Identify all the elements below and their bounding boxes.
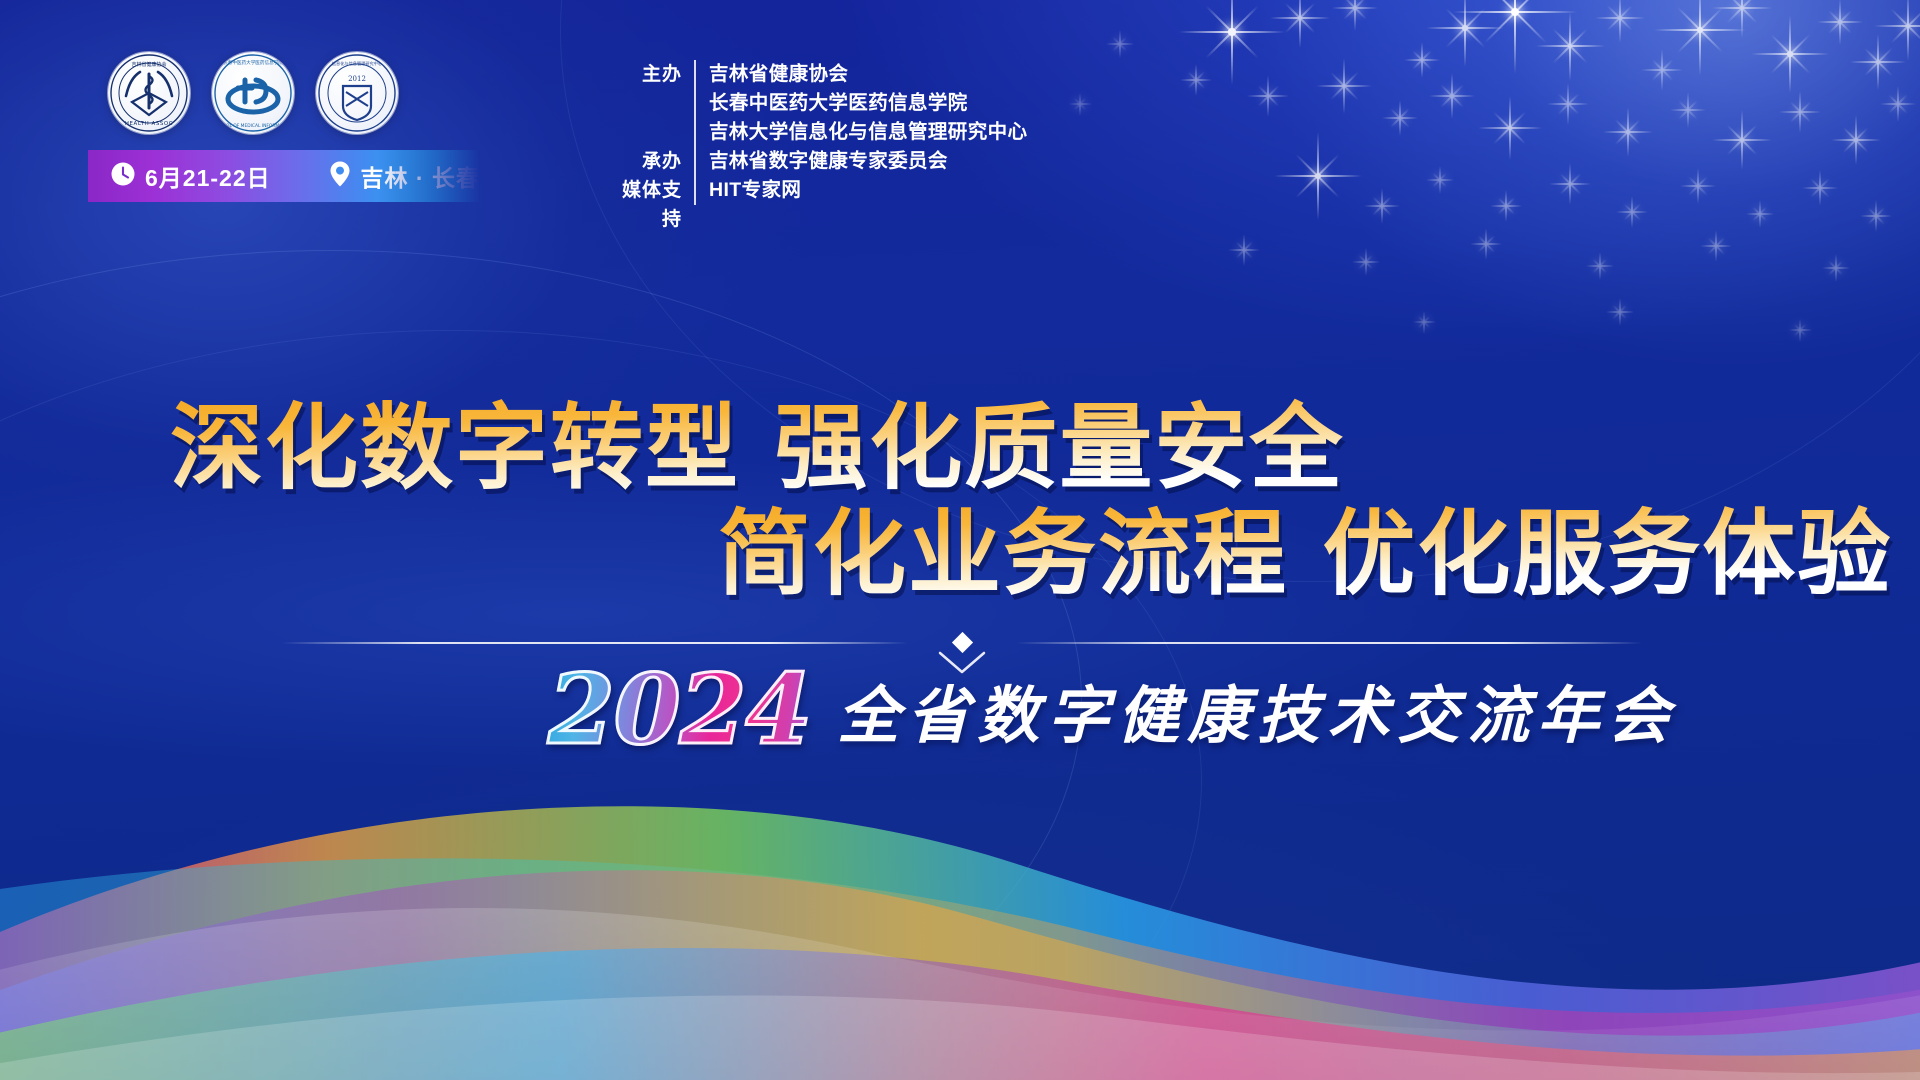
organizer-divider	[694, 176, 696, 205]
event-title: 全省数字健康技术交流年会	[837, 682, 1677, 758]
organizer-row: 承办 吉林省数字健康专家委员会	[608, 147, 1027, 176]
svg-text:吉林省健康协会: 吉林省健康协会	[131, 61, 166, 68]
logo-year: 2012	[348, 75, 366, 83]
location-pin-icon	[328, 160, 352, 193]
organizer-row: 媒体支持 HIT专家网	[608, 176, 1027, 205]
date-location-badge: 6月21-22日 吉林 · 长春	[88, 150, 480, 202]
organizer-divider	[694, 118, 696, 147]
organizer-label: 媒体支持	[608, 176, 694, 234]
location-text: 吉林 · 长春	[361, 159, 480, 193]
changchun-medical-information-college-logo: 长春中医药大学医药信息学院 SCHOOL OF MEDICAL INFORMAT…	[212, 52, 294, 134]
date-text: 6月21-22日	[145, 159, 271, 193]
top-right-glow	[1240, 0, 1920, 380]
organizer-label: 主办	[608, 60, 694, 89]
date-segment: 6月21-22日	[110, 159, 271, 193]
organizer-divider	[694, 147, 696, 176]
headline-line-2: 简化业务流程 优化服务体验	[718, 504, 1920, 604]
organizer-value: 吉林大学信息化与信息管理研究中心	[709, 118, 1027, 147]
svg-text:长春中医药大学医药信息学院: 长春中医药大学医药信息学院	[223, 59, 283, 66]
jilin-university-research-center-logo: 2012 信息化与信息管理研究中心	[316, 52, 398, 134]
organizer-row: 主办 吉林省健康协会	[608, 60, 1027, 89]
clock-icon	[110, 161, 136, 192]
organizer-divider	[694, 89, 696, 118]
organizer-logos: 吉林省健康协会 HEALTH ASSOC 长春中医药大学医药信息学院 SCHOO…	[108, 52, 398, 134]
event-year: 2024	[548, 662, 811, 758]
location-segment: 吉林 · 长春	[328, 159, 480, 193]
organizer-value: 吉林省数字健康专家委员会	[709, 147, 948, 176]
organizer-block: 主办 吉林省健康协会 长春中医药大学医药信息学院 吉林大学信息化与信息管理研究中…	[608, 60, 1027, 205]
organizer-row: 长春中医药大学医药信息学院	[608, 89, 1027, 118]
organizer-value: 长春中医药大学医药信息学院	[709, 89, 968, 118]
divider-line-left	[282, 642, 908, 644]
divider-line-right	[1016, 642, 1642, 644]
headline-line-1: 深化数字转型 强化质量安全	[170, 398, 1920, 498]
svg-text:信息化与信息管理研究中心: 信息化与信息管理研究中心	[332, 60, 383, 67]
svg-text:SCHOOL OF MEDICAL INFORMATION: SCHOOL OF MEDICAL INFORMATION	[213, 123, 292, 129]
organizer-row: 吉林大学信息化与信息管理研究中心	[608, 118, 1027, 147]
conference-banner: 吉林省健康协会 HEALTH ASSOC 长春中医药大学医药信息学院 SCHOO…	[0, 0, 1920, 1080]
jilin-health-association-logo: 吉林省健康协会 HEALTH ASSOC	[108, 52, 190, 134]
event-title-row: 2024 全省数字健康技术交流年会	[0, 662, 1920, 758]
organizer-value: HIT专家网	[709, 176, 801, 205]
organizer-label: 承办	[608, 147, 694, 176]
headline-block: 深化数字转型 强化质量安全 简化业务流程 优化服务体验	[0, 398, 1920, 605]
svg-text:HEALTH ASSOC: HEALTH ASSOC	[125, 121, 173, 127]
organizer-value: 吉林省健康协会	[709, 60, 848, 89]
organizer-divider	[694, 60, 696, 89]
headline-divider	[282, 632, 1642, 654]
